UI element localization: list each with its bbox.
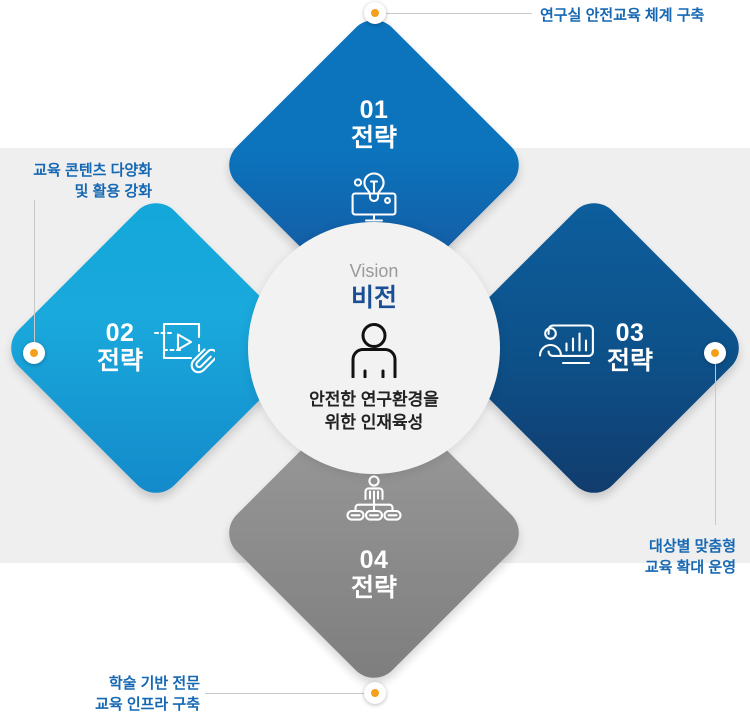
leader-line-02 bbox=[34, 200, 35, 353]
strategy-02-label: 02 전략 bbox=[97, 320, 143, 376]
strategy-04-number: 04 bbox=[360, 547, 389, 574]
callout-01: 연구실 안전교육 체계 구축 bbox=[540, 5, 704, 26]
leader-line-03 bbox=[715, 360, 716, 525]
callout-02-line2: 및 활용 강화 bbox=[0, 181, 152, 202]
connector-dot-03[interactable] bbox=[704, 342, 726, 364]
vision-description-line2: 위한 인재육성 bbox=[309, 412, 439, 434]
strategy-02-number: 02 bbox=[106, 320, 135, 347]
vision-circle[interactable]: Vision 비전 안전한 연구환경을 위한 인재육성 bbox=[248, 222, 500, 474]
vision-description: 안전한 연구환경을 위한 인재육성 bbox=[309, 389, 439, 434]
org-chart-icon bbox=[345, 474, 403, 531]
lightbulb-monitor-icon bbox=[345, 171, 403, 228]
callout-04-line1: 학술 기반 전문 bbox=[40, 673, 200, 694]
strategy-03-label: 03 전략 bbox=[607, 320, 653, 376]
callout-04-line2: 교육 인프라 구축 bbox=[40, 694, 200, 715]
strategy-01-word: 전략 bbox=[351, 124, 397, 153]
vision-strategy-diagram: 01 전략 02 전략 bbox=[0, 0, 750, 720]
vision-label-ko: 비전 bbox=[351, 284, 397, 313]
person-chart-board-icon bbox=[535, 320, 597, 377]
strategy-03-number: 03 bbox=[616, 320, 645, 347]
callout-02: 교육 콘텐츠 다양화 및 활용 강화 bbox=[0, 160, 152, 203]
connector-dot-01[interactable] bbox=[364, 2, 386, 24]
vision-description-line1: 안전한 연구환경을 bbox=[309, 389, 439, 411]
strategy-card-03-content: 03 전략 bbox=[484, 238, 704, 458]
leader-line-01 bbox=[386, 13, 532, 14]
callout-03: 대상별 맞춤형 교육 확대 운영 bbox=[598, 536, 736, 579]
person-icon bbox=[347, 322, 401, 383]
callout-03-line2: 교육 확대 운영 bbox=[598, 557, 736, 578]
strategy-04-word: 전략 bbox=[351, 574, 397, 603]
connector-dot-02[interactable] bbox=[23, 342, 45, 364]
callout-03-line1: 대상별 맞춤형 bbox=[598, 536, 736, 557]
strategy-card-02-content: 02 전략 bbox=[46, 238, 266, 458]
callout-01-line1: 연구실 안전교육 체계 구축 bbox=[540, 5, 704, 26]
strategy-03-word: 전략 bbox=[607, 347, 653, 376]
vision-label-en: Vision bbox=[350, 262, 399, 282]
leader-line-04 bbox=[205, 693, 365, 694]
callout-02-line1: 교육 콘텐츠 다양화 bbox=[0, 160, 152, 181]
strategy-02-word: 전략 bbox=[97, 347, 143, 376]
video-attachment-icon bbox=[153, 318, 215, 379]
strategy-01-number: 01 bbox=[360, 97, 389, 124]
callout-04: 학술 기반 전문 교육 인프라 구축 bbox=[40, 673, 200, 716]
connector-dot-04[interactable] bbox=[364, 682, 386, 704]
